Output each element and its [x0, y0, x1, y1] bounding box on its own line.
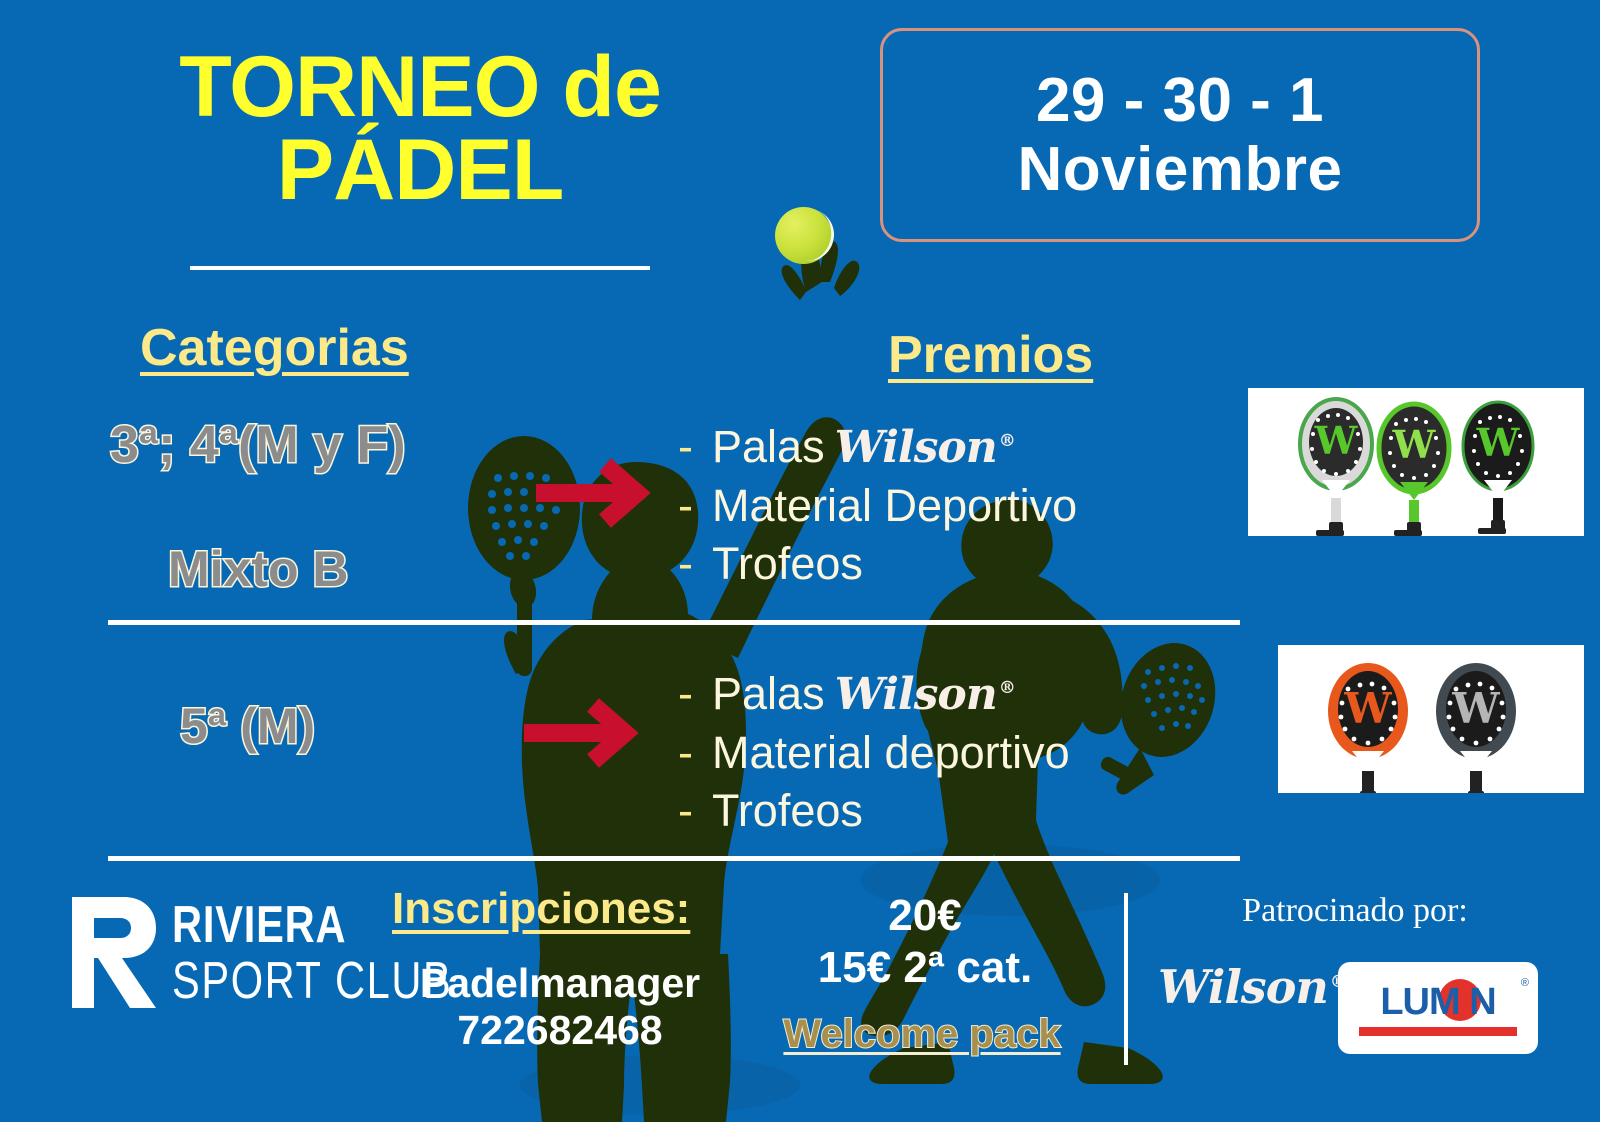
racket-serving-holes	[488, 472, 560, 560]
registration-platform: Padelmanager	[400, 960, 720, 1007]
racket-right-player	[1099, 631, 1230, 795]
riviera-r-mark-icon	[70, 895, 158, 1010]
poster-canvas: TORNEO de PÁDEL 29 - 30 - 1 Noviembre Ca…	[0, 0, 1600, 1122]
prize-row: - Material deportivo	[678, 724, 1070, 783]
prize-text: Material Deportivo	[712, 477, 1077, 536]
arrow-top	[536, 465, 637, 521]
lumon-wordmark: LUM N	[1353, 981, 1523, 1024]
category-item-3: 5ª (M)	[180, 697, 315, 755]
racket-right-holes	[1141, 663, 1205, 731]
prize-row: - Palas Wilson®	[678, 665, 1070, 724]
tennis-ball-icon	[775, 207, 832, 264]
prize-text: Trofeos	[712, 782, 863, 841]
wilson-rackets-green-photo: W W	[1248, 388, 1584, 536]
category-item-2: Mixto B	[168, 540, 349, 598]
arrow-bottom	[524, 705, 625, 761]
inscripciones-details: Padelmanager 722682468	[400, 960, 720, 1053]
svg-text:W: W	[1451, 684, 1500, 733]
prize-text: Trofeos	[712, 535, 863, 594]
prize-list-group-b: - Palas Wilson® - Material deportivo - T…	[678, 665, 1070, 841]
title-divider	[190, 266, 650, 270]
price-second-category: 15€ 2ª cat.	[770, 942, 1080, 994]
section-divider-1	[108, 620, 1240, 625]
prize-row: - Trofeos	[678, 782, 1070, 841]
page-title: TORNEO de PÁDEL	[150, 46, 690, 213]
svg-text:W: W	[1392, 422, 1437, 467]
welcome-pack-label: Welcome pack	[772, 1012, 1072, 1057]
prize-row: - Trofeos	[678, 535, 1077, 594]
registered-mark: ®	[999, 431, 1015, 451]
sponsor-divider	[1124, 893, 1128, 1065]
wilson-rackets-orange-photo: W W	[1278, 645, 1584, 793]
svg-text:W: W	[1476, 420, 1521, 465]
prize-text: Material deportivo	[712, 724, 1070, 783]
premios-heading: Premios	[888, 325, 1093, 385]
pricing-block: 20€ 15€ 2ª cat.	[770, 890, 1080, 994]
categories-heading: Categorias	[140, 318, 409, 378]
prize-row: - Palas Wilson®	[678, 418, 1077, 477]
registration-phone[interactable]: 722682468	[400, 1007, 720, 1054]
registered-mark: ®	[999, 678, 1015, 698]
date-line-1: 29 - 30 - 1	[1018, 66, 1343, 135]
racket-serving-player	[468, 436, 580, 676]
prize-text: Palas	[712, 665, 825, 724]
prize-row: - Material Deportivo	[678, 477, 1077, 536]
prize-dash: -	[678, 665, 712, 724]
lumon-underline-bar	[1359, 1027, 1517, 1036]
sponsors-heading: Patrocinado por:	[1190, 892, 1520, 930]
prize-text: Palas	[712, 418, 825, 477]
prize-list-group-a: - Palas Wilson® - Material Deportivo - T…	[678, 418, 1077, 594]
registered-mark: ®	[1521, 977, 1529, 989]
wilson-logo-text: Wilson®	[835, 419, 1015, 476]
prize-dash: -	[678, 782, 712, 841]
date-line-2: Noviembre	[1018, 135, 1343, 204]
prize-dash: -	[678, 724, 712, 783]
svg-text:W: W	[1314, 418, 1359, 463]
wilson-logo-text: Wilson®	[835, 666, 1015, 723]
title-line-2: PÁDEL	[150, 129, 690, 212]
inscripciones-heading: Inscripciones:	[392, 884, 690, 934]
price-main: 20€	[770, 890, 1080, 942]
prize-dash: -	[678, 477, 712, 536]
lumon-sponsor-logo: LUM N ®	[1338, 962, 1538, 1054]
title-line-1: TORNEO de	[150, 46, 690, 129]
date-badge: 29 - 30 - 1 Noviembre	[880, 28, 1480, 242]
svg-text:W: W	[1343, 684, 1392, 733]
prize-dash: -	[678, 535, 712, 594]
category-item-1: 3ª; 4ª(M y F)	[110, 415, 406, 475]
prize-dash: -	[678, 418, 712, 477]
wilson-sponsor-logo: Wilson®	[1158, 960, 1338, 1014]
section-divider-2	[108, 856, 1240, 861]
